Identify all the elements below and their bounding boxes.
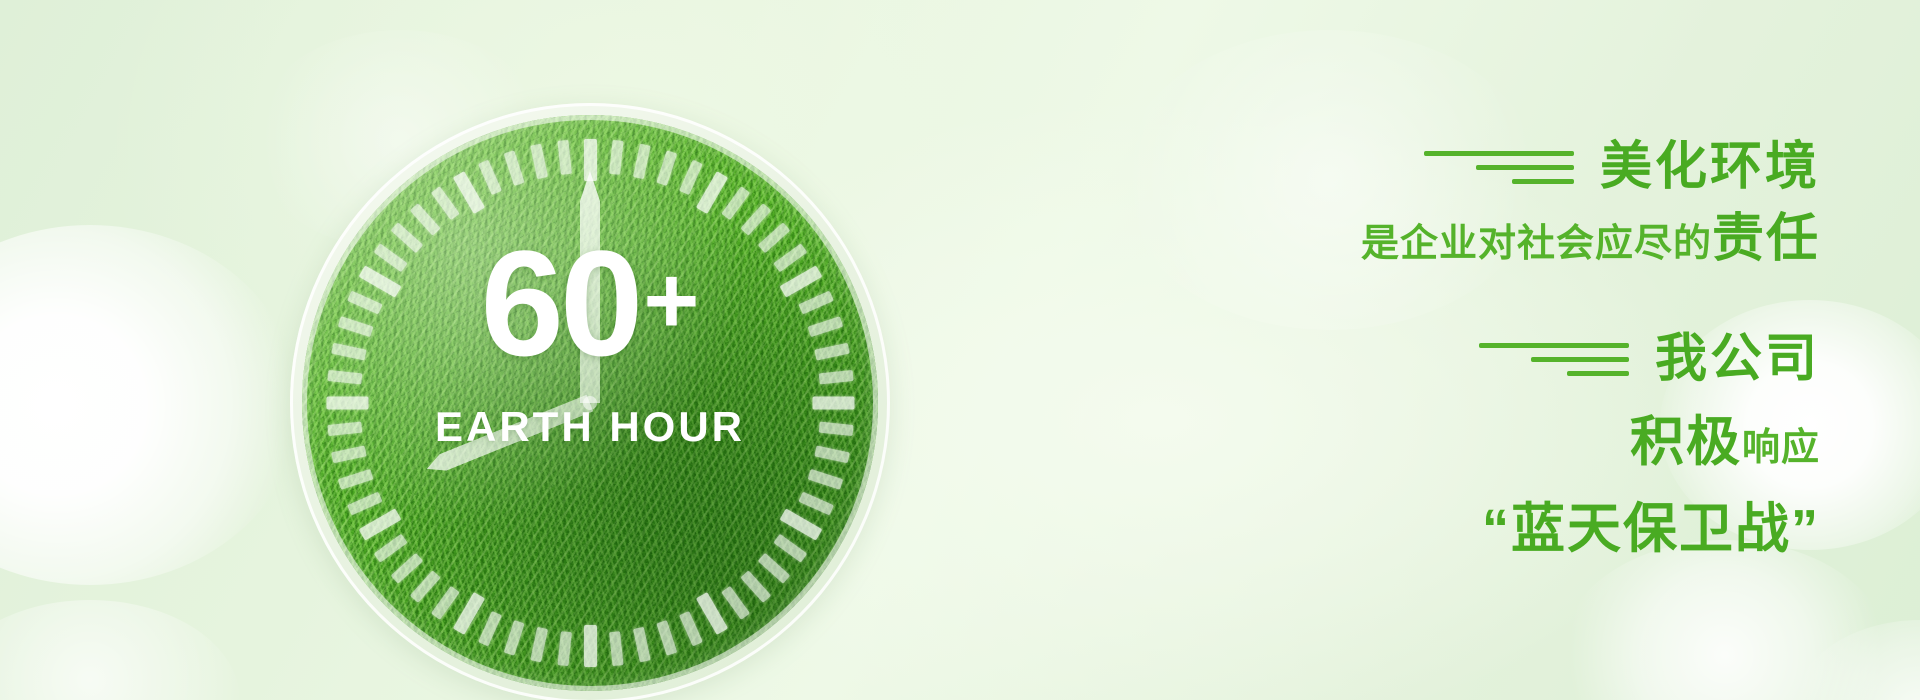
- promo-subline-1-small: 是企业对社会应尽的: [1361, 223, 1712, 265]
- promo-headline-1: 美化环境: [1600, 140, 1820, 195]
- deco-line-long: [1424, 151, 1574, 156]
- promo-subline-1-emphasis: 责任: [1712, 210, 1820, 268]
- deco-line-long-2: [1479, 343, 1629, 348]
- promo-block-1: 美化环境 是企业对社会应尽的责任: [1120, 140, 1820, 270]
- promo-line-3: “蓝天保卫战”: [1120, 484, 1820, 563]
- bokeh-light-right-lower: [1560, 540, 1890, 700]
- bokeh-light-left: [0, 225, 300, 585]
- earth-hour-clock: 60+ EARTH HOUR: [290, 103, 890, 700]
- promo-line-2-emphasis: 积极: [1630, 412, 1742, 472]
- bokeh-light-corner: [1790, 620, 1920, 700]
- deco-line-medium-2: [1531, 357, 1629, 362]
- promo-line-2-small: 响应: [1742, 427, 1820, 469]
- deco-line-medium: [1476, 165, 1574, 170]
- earth-hour-banner: 60+ EARTH HOUR 美化环境 是企业对社会应尽的责任: [0, 0, 1920, 700]
- deco-line-short: [1512, 179, 1574, 184]
- deco-line-short-2: [1567, 371, 1629, 376]
- promo-copy: 美化环境 是企业对社会应尽的责任 我公司 积极响应 “蓝天保卫战”: [1120, 140, 1820, 563]
- promo-block-2: 我公司 积极响应 “蓝天保卫战”: [1120, 332, 1820, 563]
- promo-headline-2: 我公司: [1655, 332, 1820, 387]
- clock-minute-hand: [580, 171, 600, 403]
- stepped-lines-decoration-icon: [1424, 151, 1574, 184]
- stepped-lines-decoration-icon-2: [1479, 343, 1629, 376]
- promo-subline-1: 是企业对社会应尽的责任: [1120, 209, 1820, 270]
- promo-line-2: 积极响应: [1120, 397, 1820, 476]
- bokeh-light-bottom-left: [0, 600, 240, 700]
- promo-headline-row-1: 美化环境: [1120, 140, 1820, 195]
- promo-headline-row-2: 我公司: [1120, 332, 1820, 387]
- clock-center-pin: [583, 396, 597, 410]
